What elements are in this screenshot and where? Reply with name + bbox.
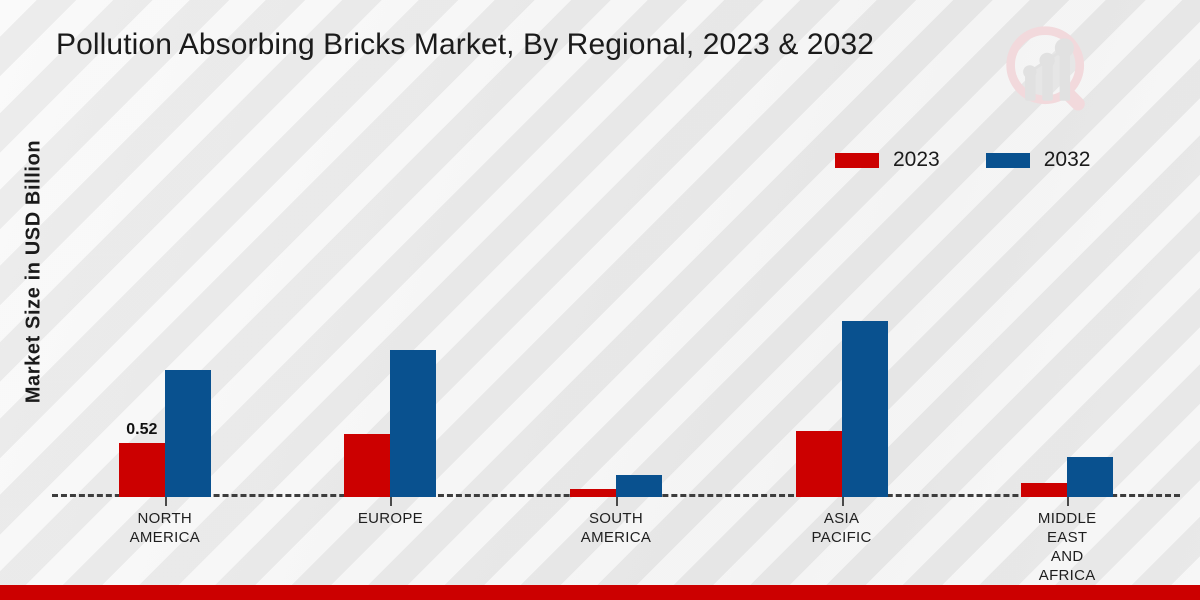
- bar-value-label: 0.52: [126, 421, 157, 439]
- bar-group: MIDDLE EAST AND AFRICA: [954, 120, 1180, 497]
- x-axis-category-label: NORTH AMERICA: [130, 509, 200, 547]
- y-axis-title: Market Size in USD Billion: [23, 102, 46, 442]
- bar-2032[interactable]: [390, 350, 436, 497]
- bar-pair: [1021, 120, 1113, 497]
- chart-title: Pollution Absorbing Bricks Market, By Re…: [56, 28, 874, 62]
- bar-2032[interactable]: [842, 321, 888, 497]
- x-axis-category-label: MIDDLE EAST AND AFRICA: [1038, 509, 1096, 585]
- bar-2023[interactable]: [1021, 483, 1067, 497]
- bar-group: ASIA PACIFIC: [729, 120, 955, 497]
- bar-2032[interactable]: [616, 475, 662, 497]
- bar-group: 0.52NORTH AMERICA: [52, 120, 278, 497]
- plot-area: 0.52NORTH AMERICAEUROPESOUTH AMERICAASIA…: [52, 120, 1180, 497]
- chart-container: Pollution Absorbing Bricks Market, By Re…: [0, 0, 1200, 600]
- x-axis-tick: [390, 497, 392, 506]
- bar-pair: [796, 120, 888, 497]
- bar-group: SOUTH AMERICA: [503, 120, 729, 497]
- bar-pair: 0.52: [119, 120, 211, 497]
- bar-2023[interactable]: [344, 434, 390, 497]
- x-axis-category-label: ASIA PACIFIC: [811, 509, 871, 547]
- bar-2032[interactable]: [1067, 457, 1113, 497]
- bar-pair: [344, 120, 436, 497]
- x-axis-tick: [165, 497, 167, 506]
- bar-pair: [570, 120, 662, 497]
- x-axis-tick: [1067, 497, 1069, 506]
- x-axis-category-label: SOUTH AMERICA: [581, 509, 651, 547]
- x-axis-tick: [616, 497, 618, 506]
- footer-accent-bar: [0, 585, 1200, 600]
- bar-2023[interactable]: [796, 431, 842, 497]
- bar-groups: 0.52NORTH AMERICAEUROPESOUTH AMERICAASIA…: [52, 120, 1180, 497]
- bar-2023[interactable]: [570, 489, 616, 497]
- bar-group: EUROPE: [278, 120, 504, 497]
- x-axis-tick: [842, 497, 844, 506]
- bar-2032[interactable]: [165, 370, 211, 497]
- bar-2023[interactable]: 0.52: [119, 443, 165, 497]
- watermark-logo-icon: [1002, 22, 1098, 118]
- x-axis-category-label: EUROPE: [358, 509, 423, 528]
